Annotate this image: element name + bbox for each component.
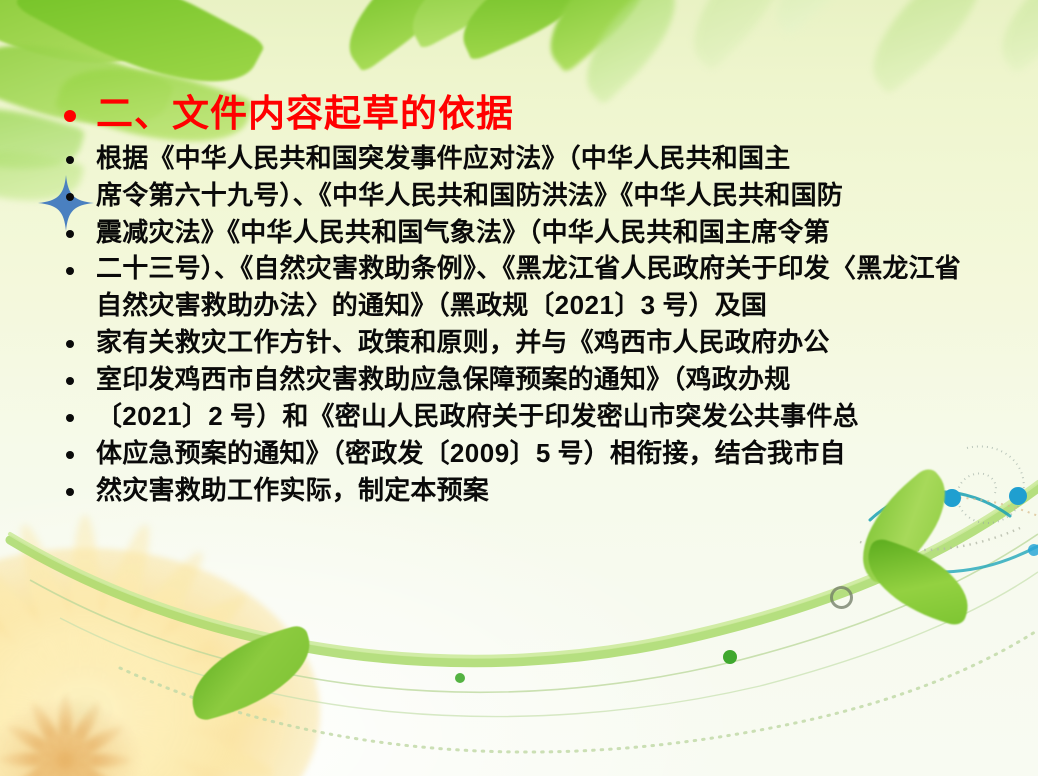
page-title: 二、文件内容起草的依据 [56,92,986,138]
document-number: 3 [641,290,656,320]
ring-dot-icon [830,586,853,609]
bullet-line: 根据《中华人民共和国突发事件应对法》（中华人民共和国主 [56,140,986,177]
document-number: 2 [208,401,223,431]
bullet-line: 室印发鸡西市自然灾害救助应急保障预案的通知》（鸡政办规 [56,361,986,398]
chrysanthemum-flower [0,548,320,776]
leaf-icon [850,0,1003,95]
leaf-icon [528,0,678,74]
leaf-icon [179,623,322,722]
slide-content: 二、文件内容起草的依据 根据《中华人民共和国突发事件应对法》（中华人民共和国主 … [56,92,986,509]
document-number: 2009 [450,438,510,468]
leaf-icon [855,536,980,628]
leaf-icon [446,0,627,62]
bullet-line: 家有关救灾工作方针、政策和原则，并与《鸡西市人民政府办公 [56,324,986,361]
bullet-list: 二、文件内容起草的依据 根据《中华人民共和国突发事件应对法》（中华人民共和国主 … [56,92,986,509]
document-number: 5 [536,438,551,468]
leaf-icon [982,0,1038,74]
slide-canvas: 二、文件内容起草的依据 根据《中华人民共和国突发事件应对法》（中华人民共和国主 … [0,0,1038,776]
bullet-line: 〔2021〕2 号）和《密山人民政府关于印发密山市突发公共事件总 [56,398,986,435]
leaf-icon [671,0,810,71]
leaf-icon [0,0,160,97]
bullet-line: 震减灾法》《中华人民共和国气象法》（中华人民共和国主席令第 [56,214,986,251]
leaf-icon [759,0,872,37]
bullet-line: 席令第六十九号）、《中华人民共和国防洪法》《中华人民共和国防 [56,177,986,214]
bullet-line: 然灾害救助工作实际，制定本预案 [56,472,986,509]
document-number: 2021 [122,401,182,431]
small-flower [0,700,140,776]
bullet-line: 体应急预案的通知》（密政发〔2009〕5 号）相衔接，结合我市自 [56,435,986,472]
leaf-icon [327,0,493,73]
document-number: 2021 [555,290,615,320]
leaf-icon [395,0,555,50]
leaf-icon [565,0,697,105]
bullet-line: 二十三号）、《自然灾害救助条例》、《黑龙江省人民政府关于印发〈黑龙江省自然灾害救… [56,251,986,324]
